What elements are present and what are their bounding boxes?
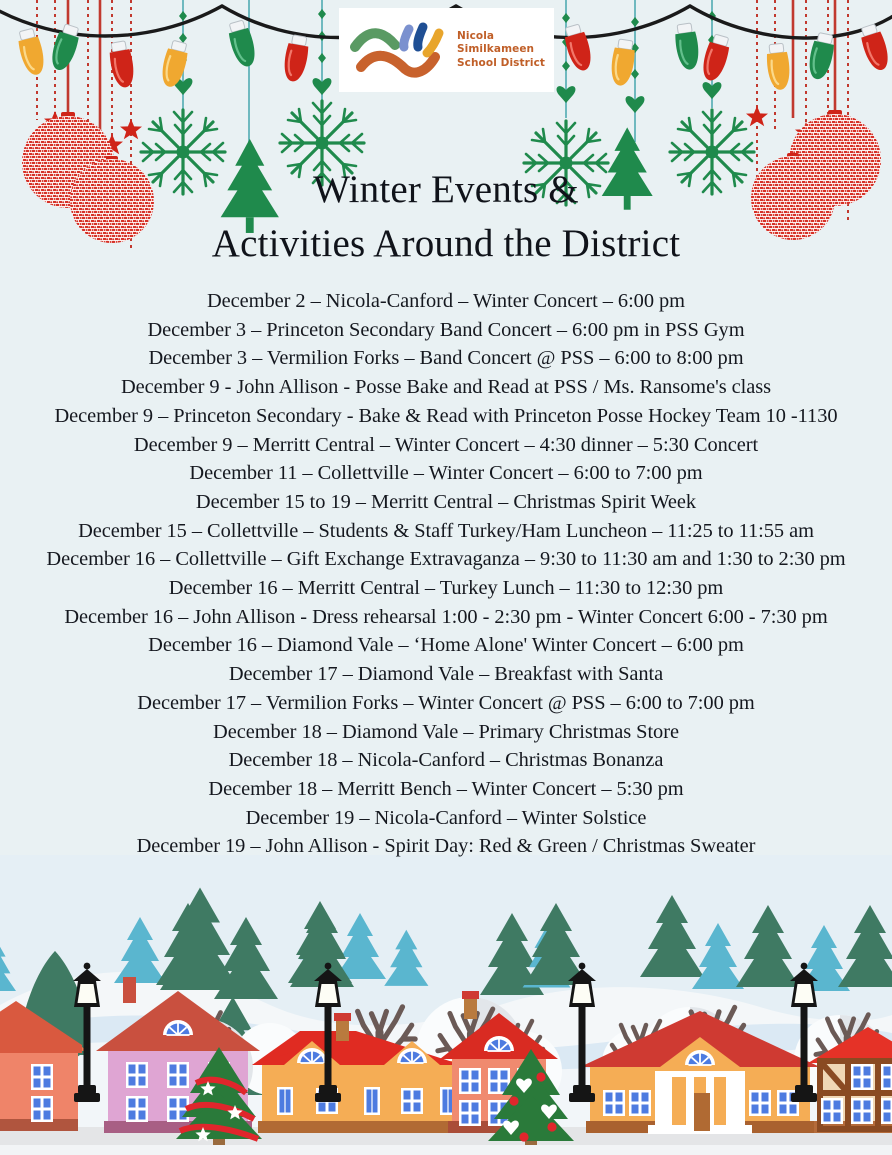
event-item: December 3 – Vermilion Forks – Band Conc…: [0, 344, 892, 373]
logo-line-2: Similkameen: [457, 43, 545, 56]
event-item: December 18 – Diamond Vale – Primary Chr…: [0, 718, 892, 747]
logo-wordmark: Nicola Similkameen School District: [457, 30, 545, 70]
event-item: December 16 – Merritt Central – Turkey L…: [0, 574, 892, 603]
event-item: December 3 – Princeton Secondary Band Co…: [0, 316, 892, 345]
event-list: December 2 – Nicola-Canford – Winter Con…: [0, 287, 892, 861]
event-item: December 15 to 19 – Merritt Central – Ch…: [0, 488, 892, 517]
event-item: December 16 – Collettville – Gift Exchan…: [0, 545, 892, 574]
event-item: December 16 – John Allison - Dress rehea…: [0, 603, 892, 632]
event-item: December 15 – Collettville – Students & …: [0, 517, 892, 546]
district-logo: Nicola Similkameen School District: [339, 8, 554, 92]
event-item: December 9 – Merritt Central – Winter Co…: [0, 431, 892, 460]
title-line-1: Winter Events &: [0, 163, 892, 217]
logo-swoosh-mark: [347, 19, 455, 81]
event-item: December 19 – John Allison - Spirit Day:…: [0, 832, 892, 861]
event-item: December 11 – Collettville – Winter Conc…: [0, 459, 892, 488]
event-item: December 9 – Princeton Secondary - Bake …: [0, 402, 892, 431]
winter-village-illustration: [0, 855, 892, 1155]
event-item: December 17 – Vermilion Forks – Winter C…: [0, 689, 892, 718]
page-title: Winter Events & Activities Around the Di…: [0, 163, 892, 271]
event-item: December 9 - John Allison - Posse Bake a…: [0, 373, 892, 402]
event-item: December 19 – Nicola-Canford – Winter So…: [0, 804, 892, 833]
event-item: December 18 – Nicola-Canford – Christmas…: [0, 746, 892, 775]
event-item: December 18 – Merritt Bench – Winter Con…: [0, 775, 892, 804]
event-item: December 2 – Nicola-Canford – Winter Con…: [0, 287, 892, 316]
event-item: December 17 – Diamond Vale – Breakfast w…: [0, 660, 892, 689]
logo-line-3: School District: [457, 57, 545, 70]
winter-events-poster: Nicola Similkameen School District Winte…: [0, 0, 892, 1155]
title-line-2: Activities Around the District: [0, 217, 892, 271]
logo-line-1: Nicola: [457, 30, 545, 43]
event-item: December 16 – Diamond Vale – ‘Home Alone…: [0, 631, 892, 660]
